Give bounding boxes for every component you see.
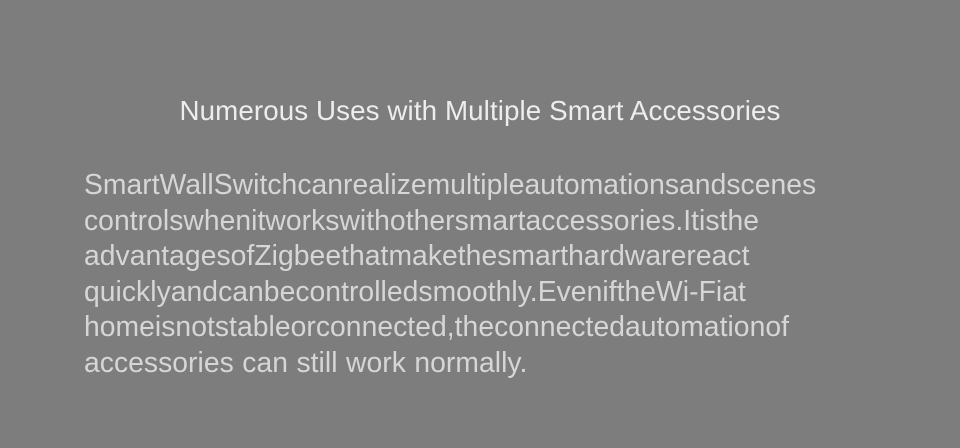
body-word: controlled <box>295 275 418 307</box>
body-line-content: advantagesofZigbeethatmakethesmarthardwa… <box>84 238 877 274</box>
body-word: or <box>291 310 316 342</box>
body-word: quickly <box>84 275 171 307</box>
body-word: it <box>251 204 265 236</box>
body-word: that <box>341 239 388 271</box>
body-word: scenes <box>726 168 816 200</box>
body-word: the <box>455 310 494 342</box>
body-line: SmartWallSwitchcanrealizemultipleautomat… <box>84 167 877 203</box>
body-line: controlswhenitworkswithothersmartaccesso… <box>84 203 877 239</box>
body-word: Wi-Fi <box>656 275 722 307</box>
body-word: of <box>231 239 255 271</box>
body-word: controls <box>84 204 183 236</box>
body-word: realize <box>343 168 427 200</box>
body-word: at <box>722 275 746 307</box>
body-paragraph: SmartWallSwitchcanrealizemultipleautomat… <box>84 167 877 381</box>
body-word: not <box>175 310 214 342</box>
body-word: is <box>155 310 176 342</box>
body-word: and <box>171 275 218 307</box>
body-word: the <box>458 239 497 271</box>
body-word: with <box>339 204 389 236</box>
page-title: Numerous Uses with Multiple Smart Access… <box>0 89 960 133</box>
body-word: the <box>720 204 759 236</box>
body-word: other <box>390 204 455 236</box>
body-word: connected <box>494 310 625 342</box>
body-word: multiple <box>427 168 525 200</box>
body-word: works <box>265 204 339 236</box>
body-word: accessories. <box>526 204 684 236</box>
body-line: accessoriescanstillworknormally. <box>84 345 877 381</box>
body-word: It <box>683 204 699 236</box>
body-word: smoothly. <box>418 275 537 307</box>
body-line: advantagesofZigbeethatmakethesmarthardwa… <box>84 238 877 274</box>
body-word: Zigbee <box>254 239 341 271</box>
body-word: can <box>297 168 343 200</box>
body-word: still <box>296 346 337 378</box>
body-word: advantages <box>84 239 231 271</box>
body-word: stable <box>215 310 291 342</box>
body-word: work <box>346 346 406 378</box>
body-word: Wall <box>160 168 214 200</box>
body-word: of <box>765 310 789 342</box>
body-word: be <box>264 275 296 307</box>
body-line-content: controlswhenitworkswithothersmartaccesso… <box>84 203 877 239</box>
body-word: home <box>84 310 155 342</box>
body-word: react <box>686 239 749 271</box>
body-word: is <box>699 204 720 236</box>
body-line: quicklyandcanbecontrolledsmoothly.Evenif… <box>84 274 877 310</box>
body-word: Smart <box>84 168 160 200</box>
body-line-content: quicklyandcanbecontrolledsmoothly.Evenif… <box>84 274 877 310</box>
body-word: smart <box>497 239 568 271</box>
promo-panel: Numerous Uses with Multiple Smart Access… <box>0 0 960 448</box>
body-word: when <box>183 204 251 236</box>
body-word: automations <box>524 168 679 200</box>
body-word: the <box>617 275 656 307</box>
body-line-content: homeisnotstableorconnected,theconnecteda… <box>84 309 877 345</box>
body-word: make <box>388 239 457 271</box>
body-line: homeisnotstableorconnected,theconnecteda… <box>84 309 877 345</box>
body-word: Switch <box>214 168 298 200</box>
body-word: can <box>242 346 288 378</box>
body-word: normally. <box>414 346 527 378</box>
body-word: if <box>602 275 616 307</box>
body-word: accessories <box>84 346 234 378</box>
body-word: connected, <box>316 310 455 342</box>
body-line-content: SmartWallSwitchcanrealizemultipleautomat… <box>84 167 877 203</box>
body-word: Even <box>538 275 603 307</box>
body-word: can <box>218 275 264 307</box>
body-line-content: accessoriescanstillworknormally. <box>84 345 877 381</box>
body-word: and <box>679 168 726 200</box>
body-word: smart <box>455 204 526 236</box>
body-word: automation <box>625 310 765 342</box>
body-word: hardware <box>568 239 686 271</box>
